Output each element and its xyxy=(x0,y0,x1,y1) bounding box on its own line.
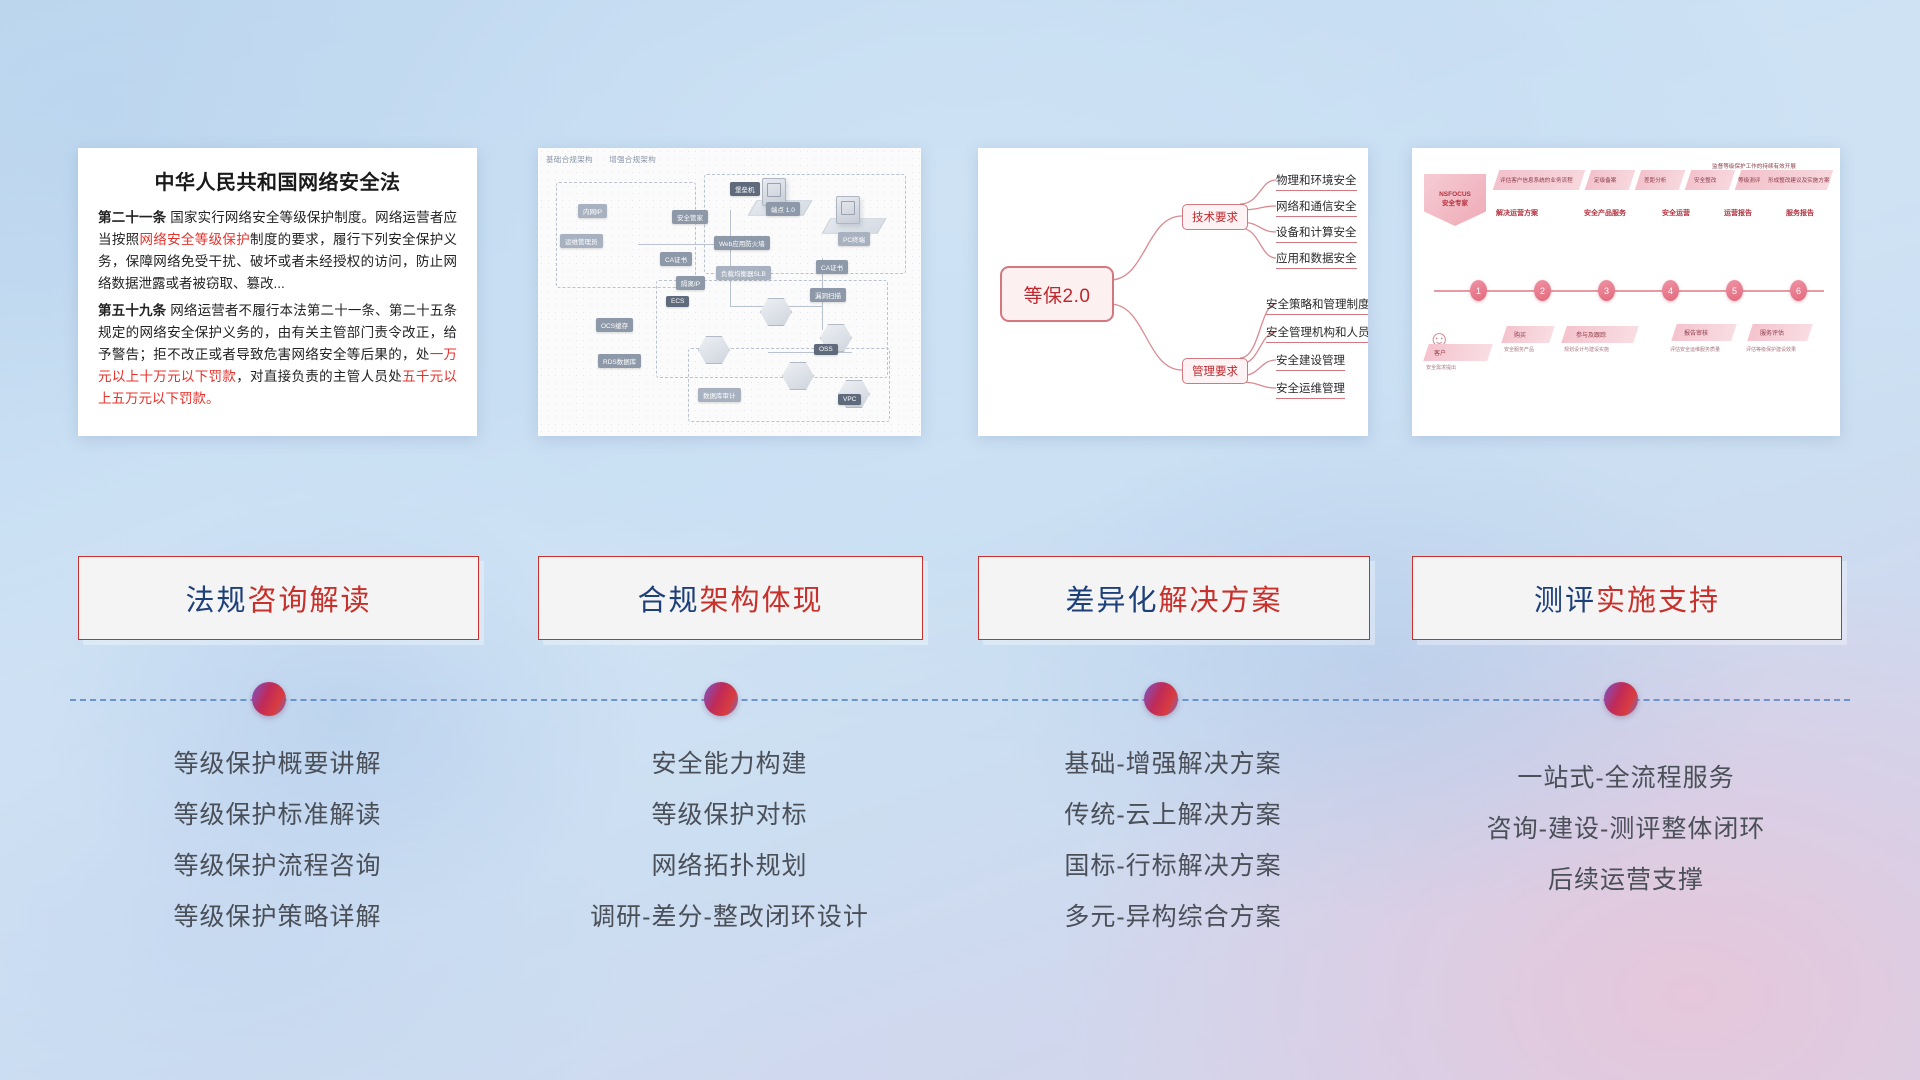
nsfocus-logo: NSFOCUS 安全专家 xyxy=(1424,174,1486,226)
law-title: 中华人民共和国网络安全法 xyxy=(98,166,457,195)
nsfocus-bottom-label-3: 报告审核 xyxy=(1684,328,1708,337)
architecture-node-endpoint: 端点 1.0 xyxy=(766,202,800,216)
section-title-3: 差异化解决方案 xyxy=(1065,577,1282,619)
architecture-canvas: 基础合规架构 增强合规架构 堡垒机 xyxy=(538,148,921,436)
nsfocus-bottom-label-2: 参与及跟踪 xyxy=(1576,330,1606,339)
architecture-node-vpc: VPC xyxy=(838,394,861,405)
nsfocus-ribbon-label-2: 定级备案 xyxy=(1594,176,1616,184)
nsfocus-ribbon-label-5: 等级测评 xyxy=(1738,176,1760,184)
architecture-node-bastion: 堡垒机 xyxy=(730,182,760,196)
list-item: 等级保护对标 xyxy=(538,803,921,828)
nsfocus-step-6: 6 xyxy=(1790,280,1807,301)
nsfocus-step-2: 2 xyxy=(1534,280,1551,301)
architecture-server-2 xyxy=(836,196,860,224)
mindmap-leaf-ops: 安全运维管理 xyxy=(1276,380,1345,399)
nsfocus-bottom-sub-1: 安全服务产品 xyxy=(1504,346,1534,353)
list-item: 国标-行标解决方案 xyxy=(978,854,1368,879)
section-title-1-part-a: 法规 xyxy=(185,585,247,617)
card-law-text: 中华人民共和国网络安全法 第二十一条 国家实行网络安全等级保护制度。网络运营者应… xyxy=(78,148,477,436)
section-title-4: 测评实施支持 xyxy=(1534,577,1720,619)
list-item: 等级保护标准解读 xyxy=(78,803,477,828)
law-paragraph-59: 第五十九条 网络运营者不履行本法第二十一条、第二十五条规定的网络安全保护义务的，… xyxy=(98,300,457,409)
architecture-node-isolate: 隔离IP xyxy=(676,276,705,290)
nsfocus-stage-label-3: 安全运营 xyxy=(1662,208,1690,218)
list-item: 等级保护策略详解 xyxy=(78,905,477,930)
nsfocus-bottom-label-1: 购买 xyxy=(1514,330,1526,339)
nsfocus-stage-label-2: 安全产品服务 xyxy=(1584,208,1626,218)
timeline-dot-4[interactable] xyxy=(1604,682,1638,716)
nsfocus-customer-label: 客户 xyxy=(1434,348,1446,357)
list-item: 等级保护流程咨询 xyxy=(78,854,477,879)
section-title-3-part-a: 差异化 xyxy=(1065,585,1158,617)
mindmap-leaf-network: 网络和通信安全 xyxy=(1276,198,1357,217)
section-title-2-part-a: 合规 xyxy=(637,585,699,617)
list-item: 基础-增强解决方案 xyxy=(978,752,1368,777)
list-item: 传统-云上解决方案 xyxy=(978,803,1368,828)
timeline-dot-1[interactable] xyxy=(252,682,286,716)
architecture-header-basic: 基础合规架构 xyxy=(546,155,593,164)
architecture-link-5 xyxy=(768,352,852,353)
law-article-59-label: 第五十九条 xyxy=(98,303,166,318)
section-list-1: 等级保护概要讲解 等级保护标准解读 等级保护流程咨询 等级保护策略详解 xyxy=(78,752,477,956)
timeline-dot-2[interactable] xyxy=(704,682,738,716)
architecture-link-2 xyxy=(730,210,731,306)
architecture-node-opsadmin: 运维管理员 xyxy=(560,234,603,248)
section-title-2: 合规架构体现 xyxy=(637,577,823,619)
nsfocus-logo-sub: 安全专家 xyxy=(1442,200,1468,209)
mindmap-branch-technical: 技术要求 xyxy=(1182,204,1248,230)
timeline-dot-3[interactable] xyxy=(1144,682,1178,716)
mindmap-leaf-build: 安全建设管理 xyxy=(1276,352,1345,371)
architecture-node-pc: PC终端 xyxy=(838,232,870,246)
architecture-node-oss: OSS xyxy=(814,344,838,355)
list-item: 咨询-建设-测评整体闭环 xyxy=(1412,817,1840,842)
nsfocus-bottom-tag-1 xyxy=(1501,326,1555,343)
architecture-node-ecs: ECS xyxy=(666,296,689,307)
nsfocus-ribbon-label-6: 形成整改建议及实施方案 xyxy=(1768,176,1830,184)
section-title-box-2[interactable]: 合规架构体现 xyxy=(538,556,923,640)
section-title-4-part-a: 测评 xyxy=(1534,585,1596,617)
card-nsfocus-timeline: NSFOCUS 安全专家 评估客户信息系统的业务流程 定级备案 差距分析 安全整… xyxy=(1412,148,1840,436)
slide-stage: 中华人民共和国网络安全法 第二十一条 国家实行网络安全等级保护制度。网络运营者应… xyxy=(0,0,1920,1080)
timeline-dashed-line xyxy=(70,699,1850,701)
law-article-59-mid: ，对直接负责的主管人员处 xyxy=(236,369,402,384)
nsfocus-step-3: 3 xyxy=(1598,280,1615,301)
architecture-node-rds: RDS数据库 xyxy=(598,354,641,368)
nsfocus-ribbon-label-1: 评估客户信息系统的业务流程 xyxy=(1500,176,1573,184)
section-title-box-4[interactable]: 测评实施支持 xyxy=(1412,556,1842,640)
nsfocus-ribbon-label-3: 差距分析 xyxy=(1644,176,1666,184)
nsfocus-stage-label-5: 服务报告 xyxy=(1786,208,1814,218)
architecture-node-dbaudit: 数据库审计 xyxy=(698,388,741,402)
section-title-4-part-b: 实施支持 xyxy=(1596,585,1720,617)
architecture-node-ca-1: CA证书 xyxy=(660,252,692,266)
nsfocus-bottom-sub-2: 规划设计与建设实施 xyxy=(1564,346,1609,353)
law-body: 中华人民共和国网络安全法 第二十一条 国家实行网络安全等级保护制度。网络运营者应… xyxy=(78,148,477,436)
section-title-1-part-b: 咨询解读 xyxy=(248,585,372,617)
law-paragraph-21: 第二十一条 国家实行网络安全等级保护制度。网络运营者应当按照网络安全等级保护制度… xyxy=(98,207,457,294)
nsfocus-stage-label-4: 运营报告 xyxy=(1724,208,1752,218)
section-list-2: 安全能力构建 等级保护对标 网络拓扑规划 调研-差分-整改闭环设计 xyxy=(538,752,921,956)
nsfocus-ribbon-label-4: 安全整改 xyxy=(1694,176,1716,184)
section-list-3: 基础-增强解决方案 传统-云上解决方案 国标-行标解决方案 多元-异构综合方案 xyxy=(978,752,1368,956)
mindmap-leaf-physical: 物理和环境安全 xyxy=(1276,172,1357,191)
nsfocus-bottom-sub-4: 评估等级保护建设效果 xyxy=(1746,346,1796,353)
architecture-node-ca-2: CA证书 xyxy=(816,260,848,274)
architecture-node-slb: 负载均衡器SLB xyxy=(716,266,771,280)
list-item: 后续运营支撑 xyxy=(1412,868,1840,893)
nsfocus-stage-label-1: 解决运营方案 xyxy=(1496,208,1538,218)
nsfocus-bottom-sub-3: 评估安全运维服务质量 xyxy=(1670,346,1720,353)
mindmap-leaf-policy: 安全策略和管理制度 xyxy=(1266,296,1368,315)
architecture-node-ocs: OCS缓存 xyxy=(596,318,633,332)
nsfocus-logo-name: NSFOCUS xyxy=(1439,191,1471,200)
list-item: 多元-异构综合方案 xyxy=(978,905,1368,930)
section-title-3-part-b: 解决方案 xyxy=(1159,585,1283,617)
architecture-header-enhanced: 增强合规架构 xyxy=(609,155,656,164)
law-article-21-highlight: 网络安全等级保护 xyxy=(139,232,250,247)
card-architecture-diagram: 基础合规架构 增强合规架构 堡垒机 xyxy=(538,148,921,436)
mindmap-leaf-appdata: 应用和数据安全 xyxy=(1276,250,1357,269)
nsfocus-axis xyxy=(1434,290,1824,292)
nsfocus-customer-sub: 安全需求提出 xyxy=(1426,364,1456,371)
nsfocus-ribbon-label-7: 监督等级保护工作的持续有效开展 xyxy=(1712,162,1796,170)
architecture-node-intranet: 内网IP xyxy=(578,204,607,218)
section-list-4: 一站式-全流程服务 咨询-建设-测评整体闭环 后续运营支撑 xyxy=(1412,766,1840,919)
list-item: 网络拓扑规划 xyxy=(538,854,921,879)
mindmap-branch-management: 管理要求 xyxy=(1182,358,1248,384)
nsfocus-step-5: 5 xyxy=(1726,280,1743,301)
architecture-node-vulnscan: 漏洞扫描 xyxy=(810,288,846,302)
nsfocus-bottom-label-4: 服务评估 xyxy=(1760,328,1784,337)
mindmap-leaf-org: 安全管理机构和人员 xyxy=(1266,324,1368,343)
card-mindmap: 等保2.0 技术要求 管理要求 物理和环境安全 网络和通信安全 设备和计算安全 … xyxy=(978,148,1368,436)
mindmap-root: 等保2.0 xyxy=(1000,266,1114,322)
nsfocus-step-1: 1 xyxy=(1470,280,1487,301)
architecture-node-waf: Web应用防火墙 xyxy=(714,236,770,250)
list-item: 安全能力构建 xyxy=(538,752,921,777)
section-title-2-part-b: 架构体现 xyxy=(700,585,824,617)
section-title-box-3[interactable]: 差异化解决方案 xyxy=(978,556,1370,640)
law-article-21-label: 第二十一条 xyxy=(98,210,166,225)
list-item: 等级保护概要讲解 xyxy=(78,752,477,777)
list-item: 一站式-全流程服务 xyxy=(1412,766,1840,791)
section-title-1: 法规咨询解读 xyxy=(185,577,371,619)
architecture-node-guard: 安全管家 xyxy=(672,210,708,224)
section-title-box-1[interactable]: 法规咨询解读 xyxy=(78,556,479,640)
nsfocus-canvas: NSFOCUS 安全专家 评估客户信息系统的业务流程 定级备案 差距分析 安全整… xyxy=(1412,148,1840,436)
architecture-header: 基础合规架构 增强合规架构 xyxy=(546,154,670,165)
nsfocus-step-4: 4 xyxy=(1662,280,1679,301)
mindmap-leaf-device: 设备和计算安全 xyxy=(1276,224,1357,243)
mindmap-canvas: 等保2.0 技术要求 管理要求 物理和环境安全 网络和通信安全 设备和计算安全 … xyxy=(978,148,1368,436)
list-item: 调研-差分-整改闭环设计 xyxy=(538,905,921,930)
